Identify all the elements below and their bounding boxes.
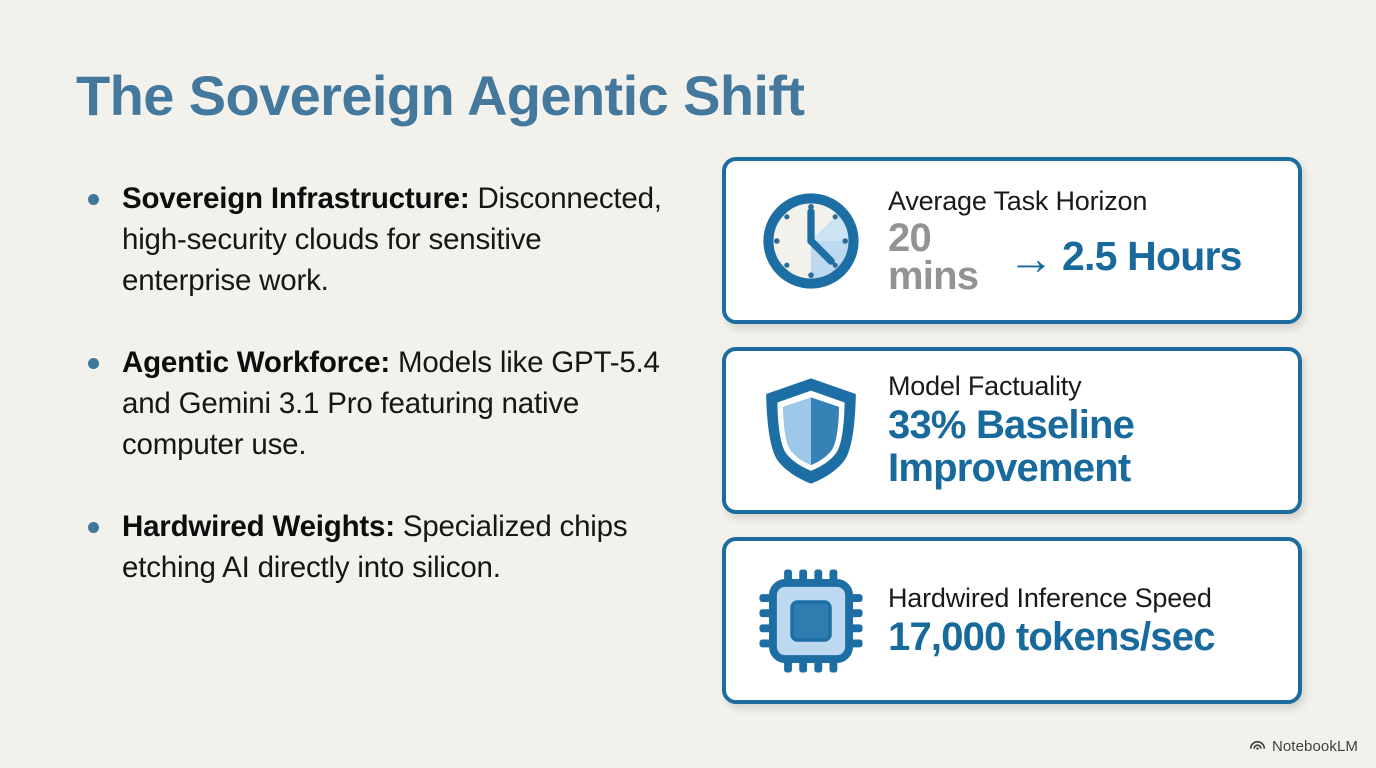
stat-card-list: Average Task Horizon 20 mins → 2.5 Hours	[722, 157, 1302, 704]
bullet-list: Sovereign Infrastructure: Disconnected, …	[86, 178, 666, 588]
stat-card-body: Average Task Horizon 20 mins → 2.5 Hours	[888, 186, 1288, 295]
notebooklm-logo-icon	[1249, 736, 1266, 756]
clock-icon	[752, 182, 870, 300]
stat-card-task-horizon: Average Task Horizon 20 mins → 2.5 Hours	[722, 157, 1302, 324]
list-item: Sovereign Infrastructure: Disconnected, …	[86, 178, 666, 301]
stat-card-model-factuality: Model Factuality 33% Baseline Improvemen…	[722, 347, 1302, 514]
stat-card-body: Model Factuality 33% Baseline Improvemen…	[888, 371, 1288, 490]
slide-canvas: The Sovereign Agentic Shift Sovereign In…	[0, 0, 1376, 768]
stat-card-label: Model Factuality	[888, 371, 1288, 402]
bullet-dot-icon	[88, 194, 99, 205]
shield-icon	[752, 372, 870, 490]
stat-card-value: 33% Baseline Improvement	[888, 404, 1288, 490]
stat-transition: 20 mins → 2.5 Hours	[888, 217, 1288, 295]
stat-card-value: 17,000 tokens/sec	[888, 616, 1288, 659]
list-item: Agentic Workforce: Models like GPT-5.4 a…	[86, 342, 666, 465]
bullet-dot-icon	[88, 358, 99, 369]
stat-value-after: 2.5 Hours	[1062, 236, 1242, 276]
list-item: Hardwired Weights: Specialized chips etc…	[86, 506, 666, 588]
stat-card-label: Hardwired Inference Speed	[888, 583, 1288, 614]
stat-value-before: 20 mins	[888, 219, 1006, 295]
arrow-right-icon: →	[1008, 239, 1054, 277]
bullet-lead: Sovereign Infrastructure:	[122, 182, 469, 215]
page-title: The Sovereign Agentic Shift	[76, 63, 804, 128]
bullet-dot-icon	[88, 522, 99, 533]
chip-icon	[752, 562, 870, 680]
notebooklm-label: NotebookLM	[1272, 738, 1358, 755]
notebooklm-watermark: NotebookLM	[1249, 736, 1358, 756]
bullet-lead: Agentic Workforce:	[122, 346, 390, 379]
stat-card-body: Hardwired Inference Speed 17,000 tokens/…	[888, 583, 1288, 659]
stat-card-inference-speed: Hardwired Inference Speed 17,000 tokens/…	[722, 537, 1302, 704]
stat-card-label: Average Task Horizon	[888, 186, 1288, 217]
bullet-lead: Hardwired Weights:	[122, 510, 395, 543]
